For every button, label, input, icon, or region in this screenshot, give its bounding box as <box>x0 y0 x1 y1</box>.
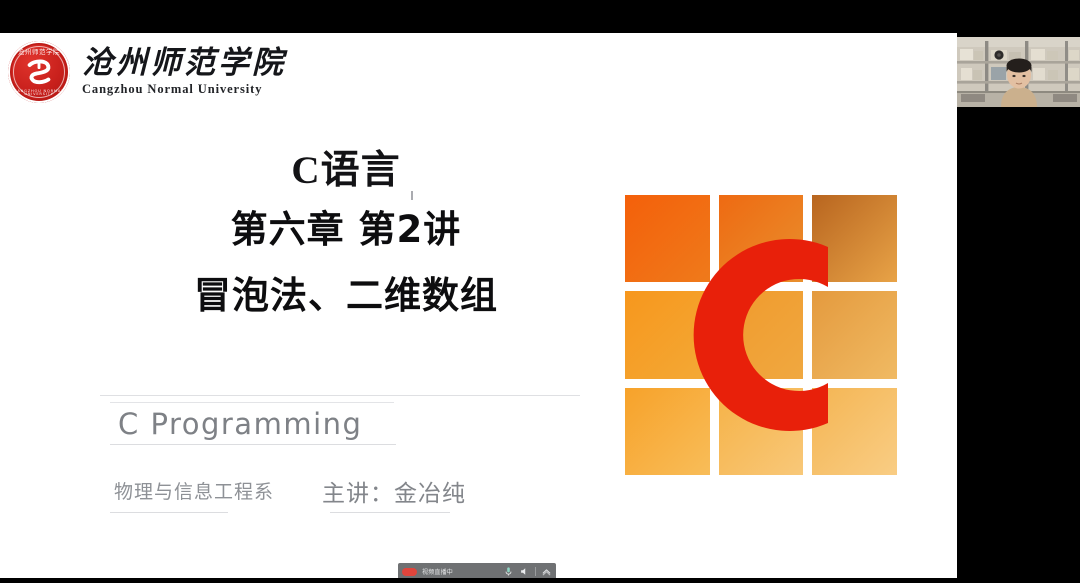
tile-r1c3 <box>812 195 897 282</box>
tile-r3c2 <box>719 388 804 475</box>
divider-rule-under-subtitle <box>110 444 396 445</box>
university-name-en: Cangzhou Normal University <box>82 82 286 97</box>
tile-r1c1 <box>625 195 710 282</box>
bottom-letterbox-bar <box>0 578 1080 583</box>
tile-r2c2 <box>719 291 804 378</box>
seal-swirl-glyph <box>22 54 56 88</box>
recording-indicator-icon <box>402 568 417 576</box>
tile-r2c1 <box>625 291 710 378</box>
presenter-label: 主讲：金冶纯 <box>322 474 466 508</box>
presentation-slide: 沧州师范学院 CANGZHOU NORMAL UNIVERSITY 沧州师范学院… <box>0 33 957 579</box>
tile-r3c3 <box>812 388 897 475</box>
topic-heading: 冒泡法、二维数组 <box>96 274 596 318</box>
tile-r3c1 <box>625 388 710 475</box>
chapter-heading: 第六章 第2讲 <box>96 208 596 252</box>
divider-rule-top-short <box>110 402 394 403</box>
speaker-icon[interactable] <box>519 566 530 577</box>
department-label: 物理与信息工程系 <box>114 477 274 504</box>
top-letterbox-bar <box>0 0 1080 33</box>
course-name-heading: C语言 <box>96 149 596 194</box>
tile-r1c2 <box>719 195 804 282</box>
presenter-webcam-video[interactable] <box>957 37 1080 107</box>
screencast-window: 沧州师范学院 CANGZHOU NORMAL UNIVERSITY 沧州师范学院… <box>0 0 1080 583</box>
divider-rule-presenter <box>330 512 450 513</box>
right-letterbox-bar <box>957 107 1080 583</box>
slide-title-block: C语言 第六章 第2讲 冒泡法、二维数组 <box>96 149 596 319</box>
divider-rule-department <box>110 512 228 513</box>
university-branding: 沧州师范学院 CANGZHOU NORMAL UNIVERSITY 沧州师范学院… <box>8 41 286 103</box>
webcam-frame <box>957 37 1080 107</box>
course-name-text: C语言 <box>291 149 400 192</box>
university-name-cn: 沧州师范学院 <box>82 47 286 80</box>
recording-status-label: 视频直播中 <box>422 567 498 576</box>
toolbar-divider <box>535 567 536 576</box>
university-seal-icon: 沧州师范学院 CANGZHOU NORMAL UNIVERSITY <box>8 41 70 103</box>
decorative-grid-logo <box>625 195 897 475</box>
tile-r2c3 <box>812 291 897 378</box>
divider-rule-top-long <box>100 395 580 396</box>
chevron-up-icon[interactable] <box>541 566 552 577</box>
subtitle-english: C Programming <box>118 407 362 441</box>
microphone-icon[interactable] <box>503 566 514 577</box>
seal-bottom-characters: CANGZHOU NORMAL UNIVERSITY <box>8 90 70 97</box>
grid-logo-tiles <box>625 195 897 475</box>
university-name-block: 沧州师范学院 Cangzhou Normal University <box>82 47 286 97</box>
text-cursor-caret <box>411 191 413 200</box>
